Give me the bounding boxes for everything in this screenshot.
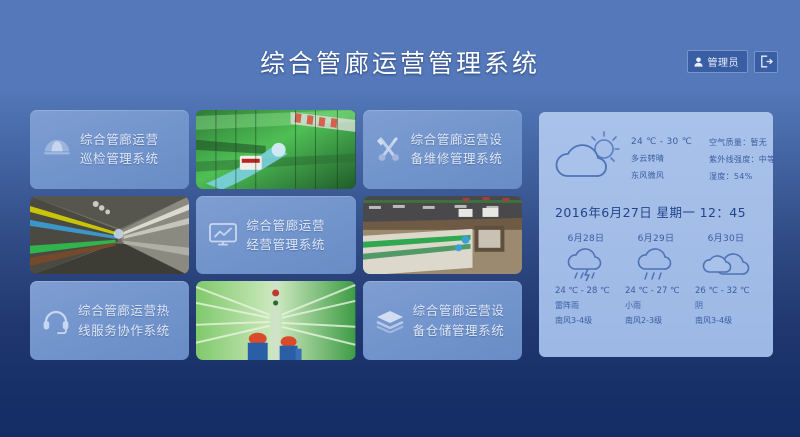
tile-photo-pipe-corridor[interactable]	[196, 110, 355, 189]
forecast-text: 26 ℃ - 32 ℃ 阴 南风3-4级	[695, 286, 757, 326]
forecast-day: 6月29日 24 ℃ - 27 ℃ 小雨 南风2-3级	[621, 231, 691, 326]
weather-current: 24 ℃ - 30 ℃ 多云转晴 东风微风 空气质量：暂无 紫外线强度：中等 湿…	[551, 122, 761, 194]
thunderstorm-icon	[563, 248, 609, 282]
forecast-day: 6月28日 24 ℃ - 28 ℃ 雷阵雨 南风3-4级	[551, 231, 621, 326]
forecast-date: 6月28日	[568, 231, 605, 244]
tunnel-interior-photo	[30, 196, 189, 275]
app-header: 综合管廊运营管理系统 管理员	[0, 0, 800, 100]
forecast-date: 6月30日	[708, 231, 745, 244]
page-title: 综合管廊运营管理系统	[0, 44, 800, 80]
weather-panel: 24 ℃ - 30 ℃ 多云转晴 东风微风 空气质量：暂无 紫外线强度：中等 湿…	[539, 112, 773, 357]
sun-behind-cloud-icon	[551, 130, 625, 186]
forecast-condition: 小雨	[625, 300, 641, 311]
tile-photo-underground-model[interactable]	[363, 196, 522, 275]
tile-label: 综合管廊运营巡检管理系统	[80, 130, 159, 169]
humidity: 湿度：54%	[709, 171, 793, 182]
tile-label: 综合管廊运营经营管理系统	[246, 216, 325, 255]
cloudy-icon	[701, 248, 751, 282]
forecast-day: 6月30日 26 ℃ - 32 ℃ 阴 南风3-4级	[691, 231, 761, 326]
forecast-text: 24 ℃ - 28 ℃ 雷阵雨 南风3-4级	[555, 286, 617, 326]
forecast-temp: 24 ℃ - 27 ℃	[625, 286, 680, 296]
user-icon	[694, 57, 703, 67]
tile-warehouse-system[interactable]: 综合管廊运营设备仓储管理系统	[363, 281, 522, 360]
forecast-temp: 24 ℃ - 28 ℃	[555, 286, 610, 296]
forecast-wind: 南风3-4级	[555, 315, 592, 326]
module-tile-grid: 综合管廊运营巡检管理系统	[30, 110, 522, 360]
current-temp-range: 24 ℃ - 30 ℃	[631, 137, 705, 147]
tile-hotline-service-system[interactable]: 综合管廊运营热线服务协作系统	[30, 281, 189, 360]
current-condition: 多云转晴	[631, 153, 705, 164]
user-name-label: 管理员	[708, 54, 740, 69]
monitor-chart-icon	[208, 222, 238, 247]
forecast-list: 6月28日 24 ℃ - 28 ℃ 雷阵雨 南风3-4级 6月29日	[551, 231, 761, 326]
uv-index: 紫外线强度：中等	[709, 154, 793, 165]
forecast-text: 24 ℃ - 27 ℃ 小雨 南风2-3级	[625, 286, 687, 326]
current-wind: 东风微风	[631, 170, 705, 181]
forecast-wind: 南风2-3级	[625, 315, 662, 326]
forecast-wind: 南风3-4级	[695, 315, 732, 326]
workers-inspection-photo	[196, 281, 355, 360]
logout-button[interactable]	[754, 51, 778, 73]
headset-icon	[42, 308, 70, 334]
user-chip[interactable]: 管理员	[687, 50, 749, 73]
pipe-corridor-photo	[196, 110, 355, 189]
layers-icon	[375, 309, 405, 333]
logout-icon	[760, 55, 773, 68]
air-quality: 空气质量：暂无	[709, 137, 793, 148]
rain-icon	[633, 248, 679, 282]
forecast-condition: 雷阵雨	[555, 300, 579, 311]
weather-right-column: 空气质量：暂无 紫外线强度：中等 湿度：54%	[709, 137, 793, 182]
forecast-condition: 阴	[695, 300, 703, 311]
tile-label: 综合管廊运营设备仓储管理系统	[413, 301, 505, 340]
tile-equipment-repair-system[interactable]: 综合管廊运营设备维修管理系统	[363, 110, 522, 189]
underground-model-photo	[363, 196, 522, 275]
user-area: 管理员	[687, 50, 779, 73]
tile-business-management-system[interactable]: 综合管廊运营经营管理系统	[196, 196, 355, 275]
forecast-temp: 26 ℃ - 32 ℃	[695, 286, 750, 296]
current-datetime: 2016年6月27日 星期一 12：45	[551, 194, 761, 225]
tile-inspection-system[interactable]: 综合管廊运营巡检管理系统	[30, 110, 189, 189]
weather-left-column: 24 ℃ - 30 ℃ 多云转晴 东风微风	[631, 137, 705, 182]
tile-label: 综合管廊运营设备维修管理系统	[411, 130, 503, 169]
wrench-screwdriver-icon	[375, 136, 403, 162]
tile-photo-workers-inspection[interactable]	[196, 281, 355, 360]
tile-photo-tunnel-interior[interactable]	[30, 196, 189, 275]
weather-detail-columns: 24 ℃ - 30 ℃ 多云转晴 东风微风 空气质量：暂无 紫外线强度：中等 湿…	[631, 135, 793, 182]
tunnel-arch-icon	[42, 138, 72, 160]
tile-label: 综合管廊运营热线服务协作系统	[78, 301, 170, 340]
forecast-date: 6月29日	[638, 231, 675, 244]
